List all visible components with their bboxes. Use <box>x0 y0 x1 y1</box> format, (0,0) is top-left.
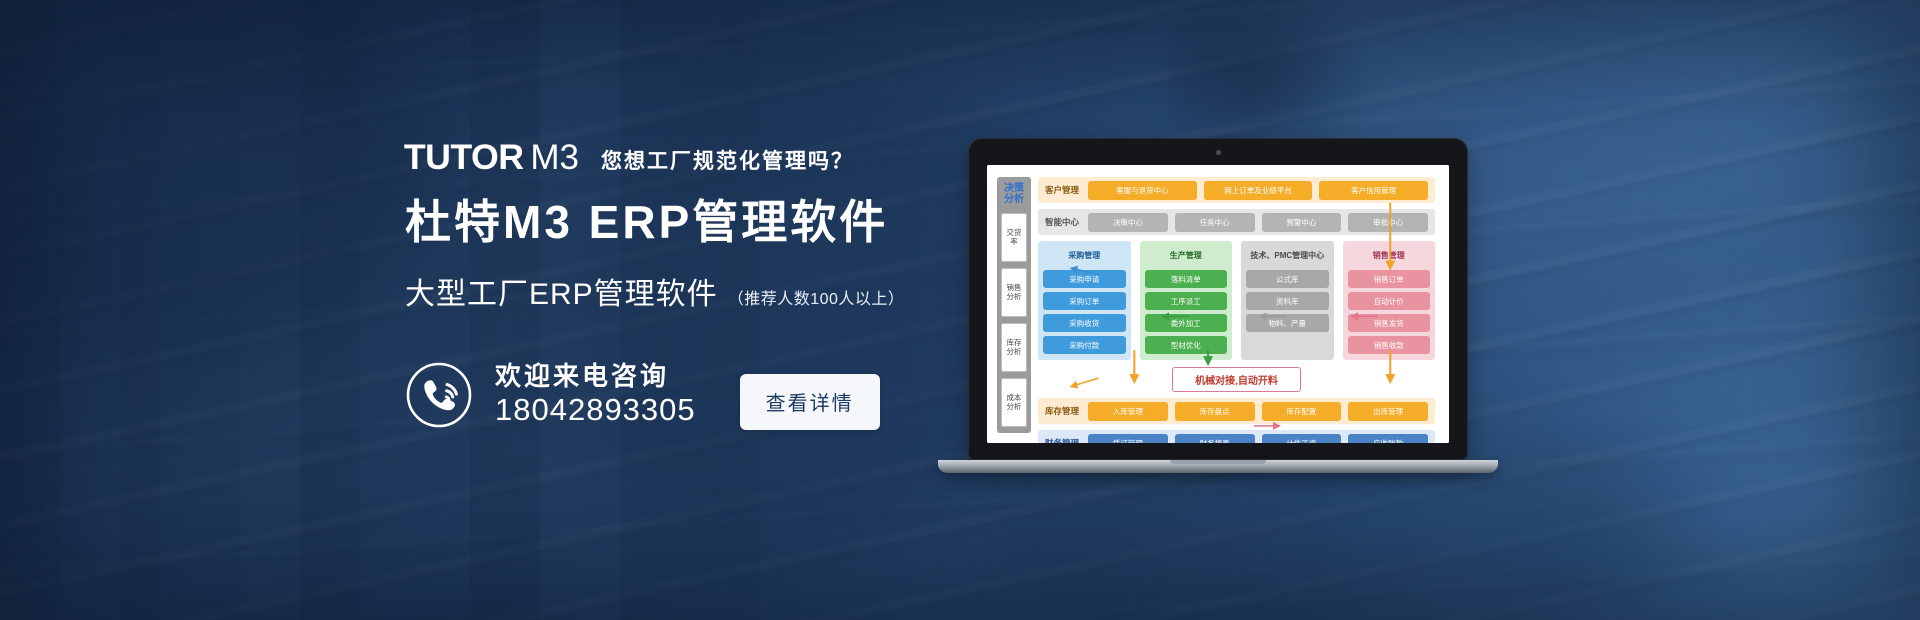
erp-chip-customer-1[interactable]: 网上订单及业绩平台 <box>1204 181 1313 200</box>
erp-chip-stock-0[interactable]: 入库管理 <box>1088 402 1168 421</box>
erp-item-produce-2[interactable]: 委外加工 <box>1145 314 1228 332</box>
erp-band-smart: 智能中心 决策中心 任务中心 预警中心 审批中心 <box>1038 209 1435 235</box>
laptop-screen: 决策分析 交货率 销售分析 库存分析 成本分析 客户管理 客服与退货中心 网上订… <box>987 165 1449 443</box>
erp-item-sales-0[interactable]: 销售订单 <box>1348 270 1431 288</box>
erp-item-produce-0[interactable]: 落料清单 <box>1145 270 1228 288</box>
erp-item-tech-0[interactable]: 公式库 <box>1246 270 1329 288</box>
erp-item-purchase-2[interactable]: 采购收货 <box>1043 314 1126 332</box>
erp-item-produce-3[interactable]: 型材优化 <box>1145 336 1228 354</box>
logo-wordmark-m3: M3 <box>530 140 579 175</box>
erp-item-sales-3[interactable]: 销售收款 <box>1348 336 1431 354</box>
contact-welcome-label: 欢迎来电咨询 <box>495 362 696 391</box>
logo-wordmark-tutor: TUTOR <box>404 140 524 175</box>
erp-chip-customer-0[interactable]: 客服与退货中心 <box>1088 181 1197 200</box>
contact-phone-number[interactable]: 18042893305 <box>495 393 696 428</box>
erp-band-customer: 客户管理 客服与退货中心 网上订单及业绩平台 客户信用管理 <box>1038 177 1435 203</box>
erp-column-tech-title: 技术、PMC管理中心 <box>1246 246 1329 265</box>
laptop-base <box>938 460 1498 473</box>
erp-chip-stock-1[interactable]: 库存盘点 <box>1175 402 1255 421</box>
erp-band-customer-label: 客户管理 <box>1045 184 1081 196</box>
erp-item-purchase-1[interactable]: 采购订单 <box>1043 292 1126 310</box>
erp-chip-smart-3[interactable]: 审批中心 <box>1348 213 1428 232</box>
erp-chip-stock-3[interactable]: 出库管理 <box>1348 402 1428 421</box>
erp-columns: 采购管理 采购申请 采购订单 采购收货 采购付款 生产管理 落料清单 工序派工 … <box>1038 241 1435 360</box>
erp-chip-customer-2[interactable]: 客户信用管理 <box>1319 181 1428 200</box>
erp-band-smart-label: 智能中心 <box>1045 216 1081 228</box>
laptop-lid: 决策分析 交货率 销售分析 库存分析 成本分析 客户管理 客服与退货中心 网上订… <box>968 138 1468 460</box>
erp-item-sales-2[interactable]: 销售发货 <box>1348 314 1431 332</box>
erp-column-tech: 技术、PMC管理中心 公式库 资料库 物料、产量 <box>1241 241 1334 360</box>
erp-chip-finance-1[interactable]: 财务报表 <box>1175 434 1255 444</box>
erp-chip-finance-2[interactable]: 计件工资 <box>1262 434 1342 444</box>
erp-item-tech-1[interactable]: 资料库 <box>1246 292 1329 310</box>
erp-column-purchase-title: 采购管理 <box>1043 246 1126 265</box>
erp-sidebar-item-2[interactable]: 库存分析 <box>1001 323 1027 372</box>
erp-chip-smart-2[interactable]: 预警中心 <box>1262 213 1342 232</box>
erp-item-purchase-0[interactable]: 采购申请 <box>1043 270 1126 288</box>
phone-call-icon <box>405 361 473 429</box>
erp-column-produce: 生产管理 落料清单 工序派工 委外加工 型材优化 <box>1140 241 1233 360</box>
erp-band-finance: 财务管理 凭证管理 财务报表 计件工资 应收账款 <box>1038 430 1435 443</box>
erp-item-sales-1[interactable]: 自动计价 <box>1348 292 1431 310</box>
erp-chip-smart-1[interactable]: 任务中心 <box>1175 213 1255 232</box>
laptop-trackpad-notch <box>1170 460 1266 464</box>
erp-band-finance-label: 财务管理 <box>1045 437 1081 443</box>
erp-item-purchase-3[interactable]: 采购付款 <box>1043 336 1126 354</box>
erp-item-produce-1[interactable]: 工序派工 <box>1145 292 1228 310</box>
erp-main: 客户管理 客服与退货中心 网上订单及业绩平台 客户信用管理 智能中心 决策中心 … <box>1038 177 1435 433</box>
erp-column-purchase: 采购管理 采购申请 采购订单 采购收货 采购付款 <box>1038 241 1131 360</box>
erp-sidebar: 决策分析 交货率 销售分析 库存分析 成本分析 <box>997 177 1031 433</box>
erp-column-sales-title: 销售管理 <box>1348 246 1431 265</box>
laptop-mockup: 决策分析 交货率 销售分析 库存分析 成本分析 客户管理 客服与退货中心 网上订… <box>968 138 1468 473</box>
contact-text: 欢迎来电咨询 18042893305 <box>495 362 696 428</box>
erp-sidebar-title: 决策分析 <box>1001 181 1027 207</box>
erp-chip-smart-0[interactable]: 决策中心 <box>1088 213 1168 232</box>
hero-subtitle-note: （推荐人数100人以上） <box>728 285 905 309</box>
erp-item-tech-2[interactable]: 物料、产量 <box>1246 314 1329 332</box>
erp-highlight-badge: 机械对接,自动开料 <box>1172 367 1301 392</box>
erp-column-produce-title: 生产管理 <box>1145 246 1228 265</box>
hero-subtitle-main: 大型工厂ERP管理软件 <box>405 269 718 313</box>
erp-band-stock-label: 库存管理 <box>1045 405 1081 417</box>
view-details-button[interactable]: 查看详情 <box>740 374 880 430</box>
erp-chip-finance-0[interactable]: 凭证管理 <box>1088 434 1168 444</box>
erp-sidebar-item-0[interactable]: 交货率 <box>1001 213 1027 262</box>
hero-banner: TUTOR M3 您想工厂规范化管理吗？ 杜特M3 ERP管理软件 大型工厂ER… <box>0 0 1920 620</box>
erp-chip-stock-2[interactable]: 库存配置 <box>1262 402 1342 421</box>
erp-architecture-diagram: 决策分析 交货率 销售分析 库存分析 成本分析 客户管理 客服与退货中心 网上订… <box>987 165 1449 443</box>
erp-band-stock: 库存管理 入库管理 库存盘点 库存配置 出库管理 <box>1038 398 1435 424</box>
erp-chip-finance-3[interactable]: 应收账款 <box>1348 434 1428 444</box>
erp-highlight-row: 机械对接,自动开料 <box>1038 366 1435 392</box>
erp-sidebar-item-1[interactable]: 销售分析 <box>1001 268 1027 317</box>
erp-sidebar-item-3[interactable]: 成本分析 <box>1001 378 1027 427</box>
brand-tagline: 您想工厂规范化管理吗？ <box>601 145 854 175</box>
erp-column-sales: 销售管理 销售订单 自动计价 销售发货 销售收款 <box>1343 241 1436 360</box>
webcam-icon <box>1216 150 1221 155</box>
